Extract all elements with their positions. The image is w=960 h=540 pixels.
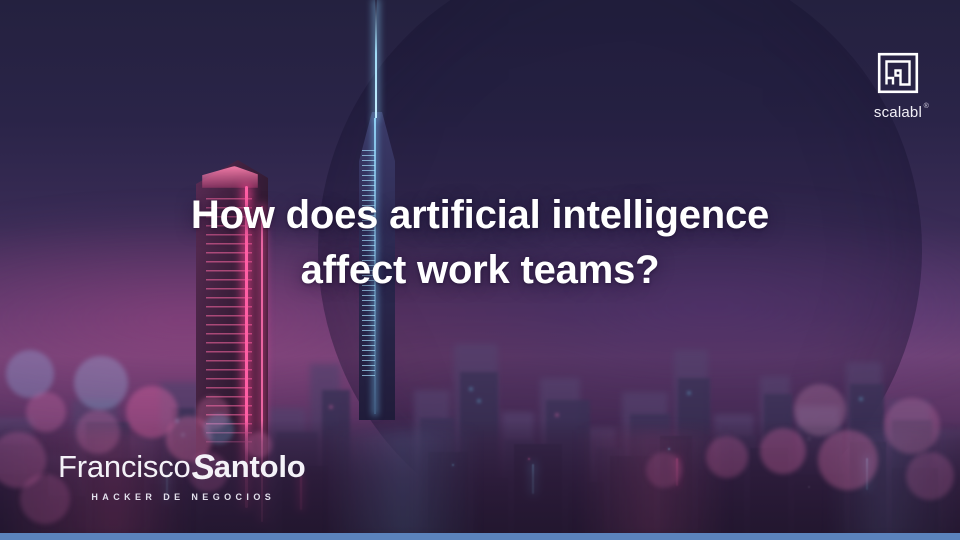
bokeh-light	[794, 384, 846, 436]
bokeh-light	[906, 452, 954, 500]
bokeh-light	[6, 350, 54, 398]
scalabl-wordmark-text: scalabl	[874, 104, 922, 121]
name-first: Francisco	[58, 449, 191, 484]
bokeh-light	[818, 430, 878, 490]
slide-title-line-2: affect work teams?	[96, 243, 864, 298]
scalabl-logo-mark	[877, 52, 919, 99]
bottom-progress-band[interactable]	[0, 533, 960, 540]
slide-canvas: How does artificial intelligence affect …	[0, 0, 960, 540]
bokeh-light	[884, 398, 940, 454]
bokeh-light	[26, 392, 66, 432]
name-initial-s: S	[192, 450, 215, 485]
francisco-santolo-tagline: HACKER DE NEGOCIOS	[58, 492, 306, 502]
bokeh-light	[646, 452, 682, 488]
scalabl-brand: scalabl®	[874, 52, 922, 121]
name-last: antolo	[214, 449, 306, 484]
bokeh-light	[706, 436, 748, 478]
francisco-santolo-logo: FranciscoSantolo HACKER DE NEGOCIOS	[58, 448, 306, 502]
francisco-santolo-name: FranciscoSantolo	[58, 448, 306, 483]
scalabl-wordmark: scalabl®	[874, 104, 922, 121]
slide-title: How does artificial intelligence affect …	[0, 188, 960, 298]
bokeh-light	[760, 428, 806, 474]
scalabl-trademark-symbol: ®	[924, 103, 929, 110]
bokeh-light	[74, 356, 128, 410]
bokeh-light	[204, 414, 234, 444]
slide-title-line-1: How does artificial intelligence	[96, 188, 864, 243]
